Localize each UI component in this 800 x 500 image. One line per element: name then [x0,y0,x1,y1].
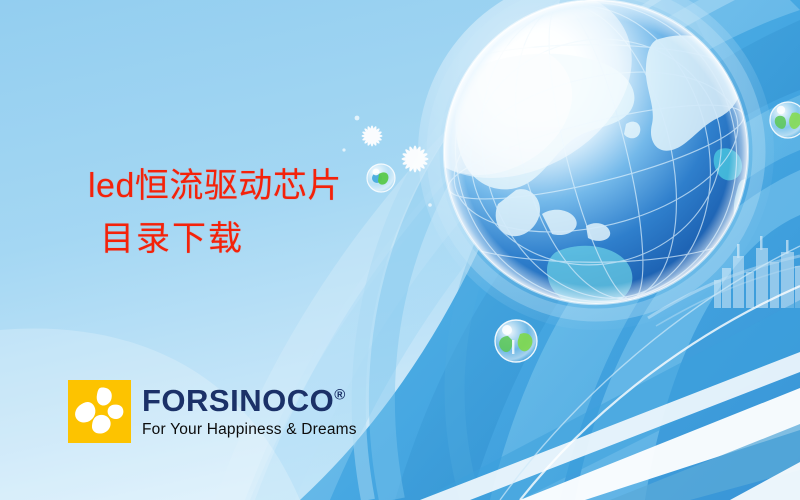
bubble-with-leaf [770,102,800,138]
brand-name-text: FORSINOCO [142,383,334,418]
bubble-with-globe [367,164,395,192]
logo-text-block: FORSINOCO® For Your Happiness & Dreams [142,385,357,438]
slide-title-line-1: led恒流驱动芯片 [88,166,342,207]
registered-trademark-icon: ® [334,387,345,404]
white-flower-asterisk [402,146,429,173]
bubble-with-leaf [495,320,537,362]
slide-title: led恒流驱动芯片 目录下载 [88,166,342,261]
brand-logo[interactable]: FORSINOCO® For Your Happiness & Dreams [68,380,357,443]
brand-tagline: For Your Happiness & Dreams [142,422,357,438]
brand-name: FORSINOCO® [142,385,357,416]
slide-canvas: led恒流驱动芯片 目录下载 FORSINOCO® For [0,0,800,500]
four-petal-pinwheel-icon [68,380,131,443]
slide-title-line-2: 目录下载 [88,219,342,260]
white-flower-asterisk [361,125,382,146]
